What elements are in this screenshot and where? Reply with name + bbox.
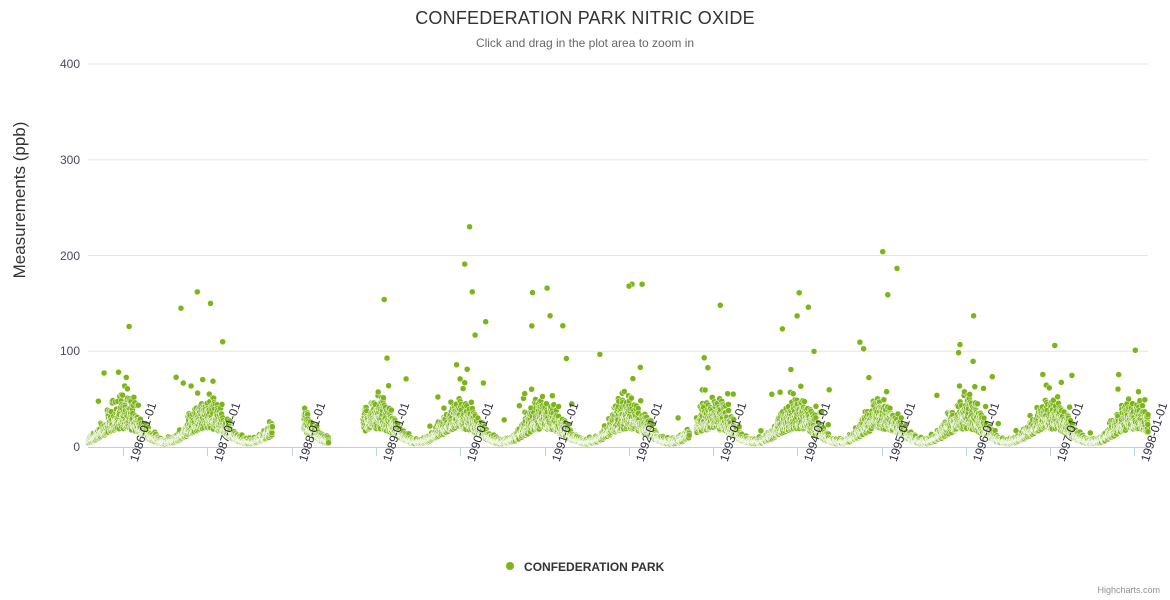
scatter-point[interactable] (375, 389, 381, 395)
scatter-point[interactable] (219, 401, 225, 407)
y-axis-tick-label: 100 (10, 344, 80, 358)
scatter-point[interactable] (435, 394, 441, 400)
scatter-point[interactable] (597, 351, 603, 357)
scatter-point[interactable] (530, 290, 536, 296)
scatter-point[interactable] (501, 417, 507, 423)
plot-area[interactable] (88, 64, 1148, 447)
scatter-point[interactable] (427, 423, 433, 429)
scatter-point[interactable] (758, 428, 764, 434)
scatter-point[interactable] (884, 389, 890, 395)
scatter-point[interactable] (188, 383, 194, 389)
y-axis-tick-labels: 0100200300400 (8, 0, 80, 600)
scatter-point[interactable] (454, 362, 460, 368)
highcharts-container[interactable]: CONFEDERATION PARK NITRIC OXIDE Click an… (0, 0, 1170, 600)
scatter-point[interactable] (126, 324, 132, 330)
y-axis-tick-label: 0 (10, 440, 80, 454)
scatter-point[interactable] (135, 402, 141, 408)
scatter-point[interactable] (124, 386, 130, 392)
scatter-point[interactable] (788, 367, 794, 373)
scatter-point[interactable] (866, 375, 872, 381)
scatter-point[interactable] (549, 393, 555, 399)
gridlines (88, 64, 1148, 351)
scatter-point[interactable] (826, 387, 832, 393)
scatter-point[interactable] (326, 440, 332, 446)
scatter-point[interactable] (131, 394, 137, 400)
scatter-point[interactable] (701, 355, 707, 361)
scatter-point[interactable] (462, 380, 468, 386)
scatter-point[interactable] (861, 346, 867, 352)
scatter-point[interactable] (556, 404, 562, 410)
scatter-point[interactable] (629, 395, 635, 401)
scatter-point[interactable] (798, 383, 804, 389)
scatter-point[interactable] (480, 380, 486, 386)
scatter-point[interactable] (811, 348, 817, 354)
scatter-point[interactable] (529, 323, 535, 329)
chart-title: CONFEDERATION PARK NITRIC OXIDE (0, 8, 1170, 29)
scatter-point[interactable] (173, 374, 179, 380)
scatter-point[interactable] (686, 432, 692, 438)
y-axis-tick-label: 400 (10, 57, 80, 71)
scatter-point[interactable] (195, 390, 201, 396)
scatter-point[interactable] (95, 398, 101, 404)
scatter-point[interactable] (388, 407, 394, 413)
scatter-point[interactable] (675, 415, 681, 421)
scatter-point[interactable] (441, 405, 447, 411)
scatter-point[interactable] (386, 383, 392, 389)
scatter-series[interactable] (88, 64, 1148, 447)
scatter-point[interactable] (726, 408, 732, 414)
scatter-point[interactable] (560, 323, 566, 329)
scatter-point[interactable] (116, 369, 122, 375)
scatter-point[interactable] (200, 377, 206, 383)
scatter-point[interactable] (460, 386, 466, 392)
scatter-point[interactable] (705, 365, 711, 371)
chart-subtitle: Click and drag in the plot area to zoom … (0, 36, 1170, 50)
scatter-point[interactable] (522, 391, 528, 397)
scatter-point[interactable] (802, 399, 808, 405)
scatter-point[interactable] (725, 391, 731, 397)
scatter-point[interactable] (516, 403, 522, 409)
scatter-point[interactable] (123, 374, 129, 380)
scatter-point[interactable] (725, 401, 731, 407)
scatter-point[interactable] (779, 326, 785, 332)
scatter-point[interactable] (540, 394, 546, 400)
scatter-point[interactable] (403, 376, 409, 382)
scatter-point[interactable] (210, 378, 216, 384)
scatter-point[interactable] (472, 332, 478, 338)
y-axis-tick-label: 300 (10, 153, 80, 167)
scatter-point[interactable] (269, 424, 275, 430)
scatter-point[interactable] (464, 366, 470, 372)
scatter-point[interactable] (730, 391, 736, 397)
scatter-point[interactable] (483, 319, 489, 325)
scatter-point[interactable] (384, 355, 390, 361)
scatter-point[interactable] (468, 399, 474, 405)
scatter-point[interactable] (794, 313, 800, 319)
scatter-point[interactable] (769, 391, 775, 397)
scatter-point[interactable] (180, 380, 186, 386)
scatter-point[interactable] (857, 339, 863, 345)
scatter-point[interactable] (777, 389, 783, 395)
scatter-point[interactable] (381, 395, 387, 401)
scatter-point[interactable] (101, 370, 107, 376)
scatter-point[interactable] (790, 391, 796, 397)
scatter-point[interactable] (638, 398, 644, 404)
scatter-point[interactable] (894, 265, 900, 271)
scatter-point[interactable] (702, 387, 708, 393)
scatter-point[interactable] (529, 386, 535, 392)
scatter-point[interactable] (220, 339, 226, 345)
scatter-point[interactable] (637, 364, 643, 370)
scatter-point[interactable] (563, 356, 569, 362)
y-axis-tick-label: 200 (10, 249, 80, 263)
scatter-point[interactable] (639, 281, 645, 287)
scatter-point[interactable] (630, 376, 636, 382)
scatter-point[interactable] (881, 397, 887, 403)
